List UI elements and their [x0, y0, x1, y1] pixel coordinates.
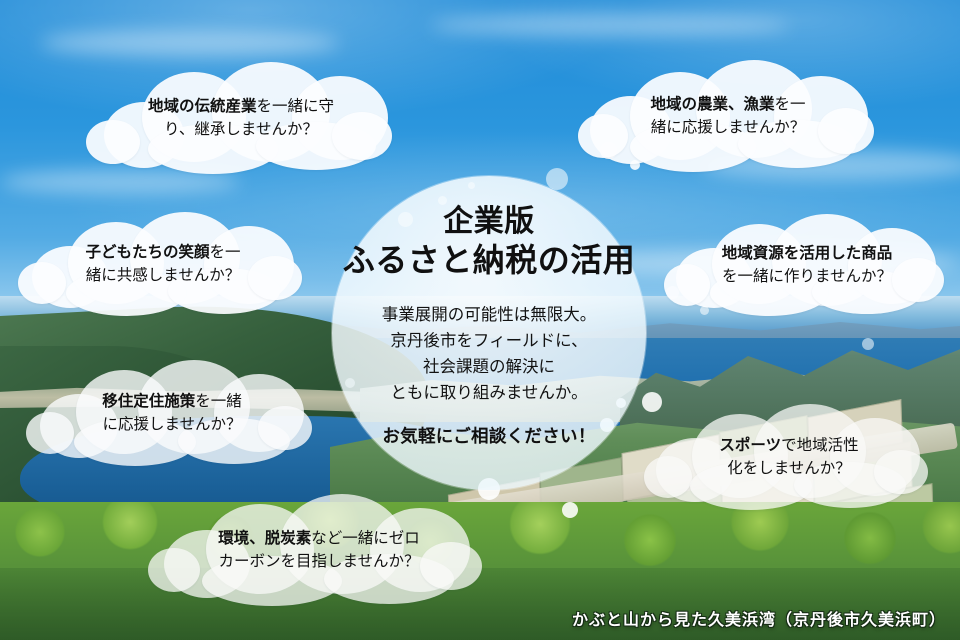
center-title-line1: 企業版	[443, 204, 535, 239]
center-body-line4: ともに取り組みませんか。	[382, 380, 597, 406]
bubble-rest-text: を一	[775, 95, 806, 113]
bubble-text: 地域の伝統産業を一緒に守 り、継承しませんか？	[86, 62, 396, 174]
center-body-line2: 京丹後市をフィールドに、	[382, 328, 597, 354]
bubble-traditional-industry[interactable]: 地域の伝統産業を一緒に守 り、継承しませんか？	[86, 62, 396, 174]
center-body: 事業展開の可能性は無限大。 京丹後市をフィールドに、 社会課題の解決に ともに取…	[382, 302, 597, 406]
bubble-text: 地域資源を活用した商品 を一緒に作りませんか？	[664, 214, 950, 316]
decor-dot	[862, 338, 874, 350]
bubble-children-smiles[interactable]: 子どもたちの笑顔を一 緒に共感しませんか？	[18, 212, 308, 316]
bubble-text: 子どもたちの笑顔を一 緒に共感しませんか？	[18, 212, 308, 316]
bubble-text: スポーツで地域活性 化をしませんか？	[644, 404, 934, 510]
bubble-text: 地域の農業、漁業を一 緒に応援しませんか？	[578, 60, 878, 172]
bubble-line2: を一緒に作りませんか？	[722, 265, 892, 288]
bubble-migration-settlement[interactable]: 移住定住施策を一緒 に応援しませんか？	[26, 360, 318, 466]
bubble-bold-text: 移住定住施策	[102, 392, 195, 410]
bubble-zero-carbon[interactable]: 環境、脱炭素など一緒にゼロ カーボンを目指しませんか？	[148, 494, 490, 606]
cloud-wisp	[430, 14, 790, 36]
center-cta: お気軽にご相談ください！	[382, 423, 595, 448]
bubble-line2: に応援しませんか？	[102, 413, 241, 436]
center-message: 企業版 ふるさと納税の活用 事業展開の可能性は無限大。 京丹後市をフィールドに、…	[332, 176, 646, 490]
bubble-bold-text: 子どもたちの笑顔	[85, 243, 209, 261]
center-title-line2: ふるさと納税の活用	[343, 241, 636, 280]
bubble-rest-text: など一緒にゼロ	[311, 529, 420, 547]
poster-canvas: 企業版 ふるさと納税の活用 事業展開の可能性は無限大。 京丹後市をフィールドに、…	[0, 0, 960, 640]
bubble-line2: 化をしませんか？	[727, 457, 851, 480]
bubble-rest-text: を一	[210, 243, 241, 261]
bubble-text: 環境、脱炭素など一緒にゼロ カーボンを目指しませんか？	[148, 494, 490, 606]
bubble-line2: り、継承しませんか？	[164, 118, 318, 141]
bubble-bold-text: 環境、脱炭素	[218, 529, 311, 547]
bubble-rest-text: を一緒	[195, 392, 242, 410]
bubble-agriculture-fishery[interactable]: 地域の農業、漁業を一 緒に応援しませんか？	[578, 60, 878, 172]
bubble-line2: 緒に応援しませんか？	[651, 116, 806, 139]
center-body-line3: 社会課題の解決に	[382, 354, 597, 380]
center-title: 企業版 ふるさと納税の活用	[343, 204, 636, 280]
bubble-bold-text: 地域資源を活用した商品	[722, 244, 893, 262]
bubble-local-resources-products[interactable]: 地域資源を活用した商品 を一緒に作りませんか？	[664, 214, 950, 316]
center-body-line1: 事業展開の可能性は無限大。	[382, 302, 597, 328]
bubble-bold-text: 地域の農業、漁業	[650, 95, 774, 113]
bubble-line2: カーボンを目指しませんか？	[218, 550, 419, 573]
bubble-line2: 緒に共感しませんか？	[86, 264, 241, 287]
bubble-text: 移住定住施策を一緒 に応援しませんか？	[26, 360, 318, 466]
bubble-bold-text: 地域の伝統産業	[148, 97, 257, 115]
bubble-bold-text: スポーツ	[719, 436, 781, 454]
bubble-rest-text: を一緒に守	[257, 97, 335, 115]
decor-dot	[562, 502, 578, 518]
photo-caption: かぶと山から見た久美浜湾（京丹後市久美浜町）	[572, 606, 946, 630]
cloud-wisp	[40, 30, 340, 56]
bubble-rest-text: で地域活性	[781, 436, 859, 454]
bubble-sports-revitalization[interactable]: スポーツで地域活性 化をしませんか？	[644, 404, 934, 510]
